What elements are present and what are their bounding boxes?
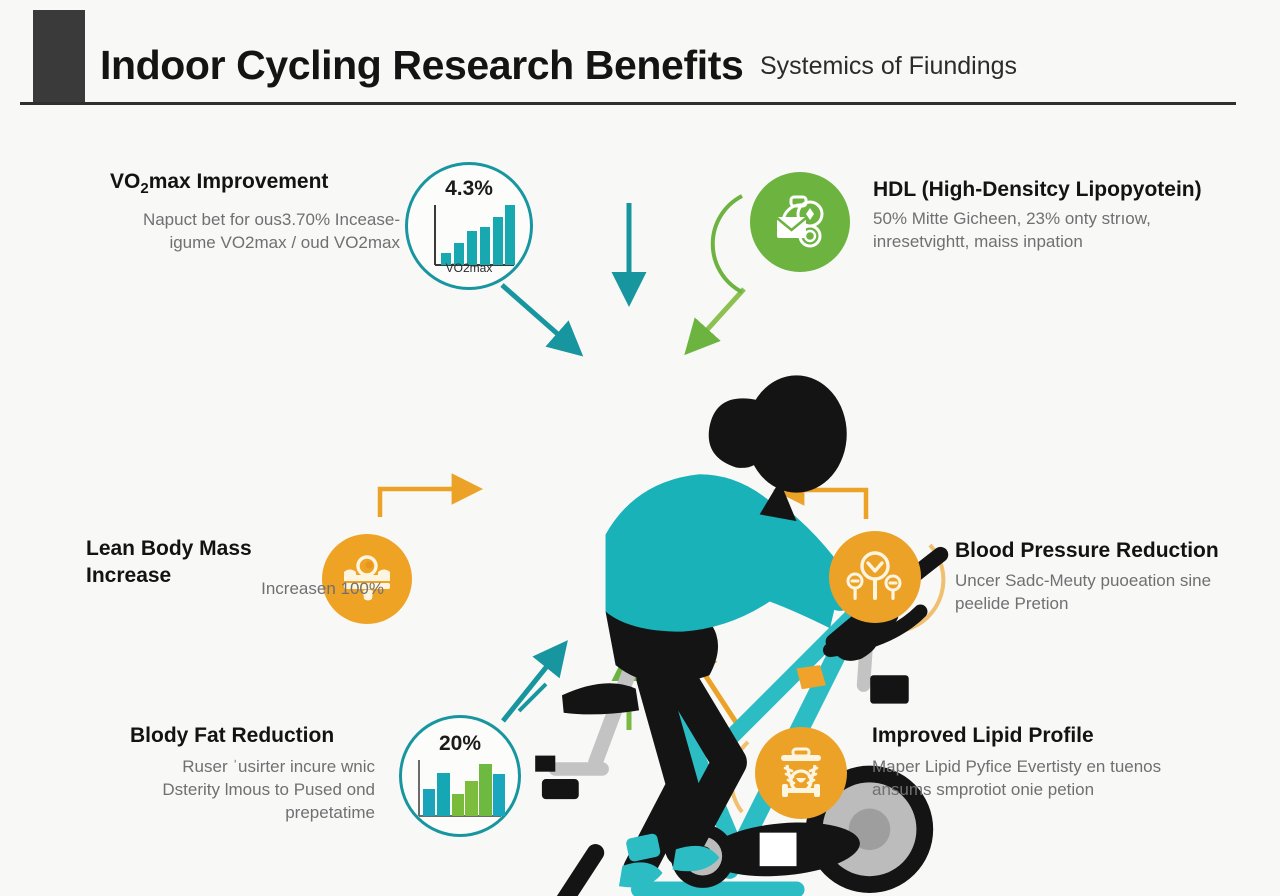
callout-body-lipid-profile: Maper Lipid Pyfice Evertisty en tuenos a… [872,755,1202,801]
callout-title-body-fat: Blody Fat Reduction [130,722,380,749]
callout-body-hdl: 50% Mitte Gicheen, 23% onty strıow, inre… [873,207,1213,253]
body-fat-value-label: 20% [402,732,518,756]
arrow-bike-to-bp [790,490,866,519]
callout-blood-pressure: Blood Pressure Reduction Uncer Sadc-Meut… [955,537,1255,615]
fat-accent-tick [519,684,546,711]
down-arrow-meters-icon [829,531,921,623]
page-title: Indoor Cycling Research Benefits [100,42,743,89]
page-subtitle: Systemics of Fiundings [760,52,1017,81]
vo2max-value-label: 4.3% [408,177,530,201]
arrow-lipid-to-bike [694,658,741,730]
callout-title-blood-pressure: Blood Pressure Reduction [955,537,1255,564]
body-fat-chart-circle: 20% [399,715,521,837]
infographic-canvas: Indoor Cycling Research Benefits Systemi… [0,0,1280,896]
arrow-fat-to-bike [503,655,556,721]
header-divider [20,102,1236,105]
bar-4 [465,781,478,816]
callout-lean-body-mass: Lean Body Mass Increase Increasen 100% [86,535,301,589]
bar-5 [479,764,492,816]
bar-6 [505,205,515,265]
header-accent-bar [33,10,85,102]
bar-5 [493,217,503,265]
lipid-flask-icon [755,727,847,819]
vo2max-axis-label: VO2max [408,261,530,275]
callout-body-body-fat: Ruser ˈusirter incure wnic Dsterity lmou… [130,755,375,824]
callout-body-fat: Blody Fat Reduction Ruser ˈusirter incur… [130,722,380,824]
hdl-accent-arc [713,196,742,292]
medical-mail-icon [750,172,850,272]
arrow-vo2-to-bike [502,285,569,344]
arrow-bike-to-lean [380,489,466,517]
callout-body-lean-body-mass: Increasen 100% [204,577,384,600]
callout-hdl: HDL (High-Densitcy Lipopyotein) 50% Mitt… [873,176,1213,253]
bar-1 [423,789,435,816]
bar-2 [437,773,450,816]
callout-title-lipid-profile: Improved Lipid Profile [872,722,1202,749]
callout-vo2max: VO2max Improvement Napuct bet for ous3.7… [110,168,400,254]
callout-body-vo2max: Napuct bet for ous3.70% Incease-igume VO… [110,208,400,254]
lipid-accent-arc [731,742,748,812]
callout-title-hdl: HDL (High-Densitcy Lipopyotein) [873,176,1213,203]
bar-6 [493,774,505,816]
bar-4 [480,227,490,265]
bar-3 [452,794,464,816]
callout-body-blood-pressure: Uncer Sadc-Meuty puoeation sine peelide … [955,569,1255,615]
callout-title-vo2max: VO2max Improvement [110,168,400,202]
vo2max-chart-circle: 4.3% VO2max [405,162,533,290]
callout-lipid-profile: Improved Lipid Profile Maper Lipid Pyfic… [872,722,1202,801]
bar-3 [467,231,477,265]
arrow-hdl-to-bike [697,289,744,341]
